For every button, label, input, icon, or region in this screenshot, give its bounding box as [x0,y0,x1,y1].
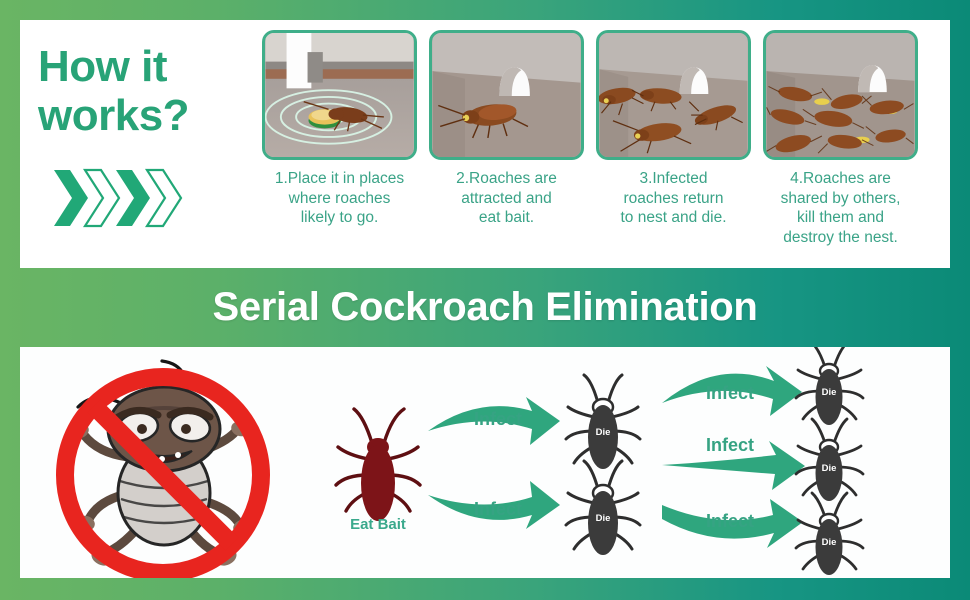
infected-roaches-returning-to-nest-illustration [599,33,748,157]
eat-bait-label: Eat Bait [350,516,406,533]
step-1-thumbnail [262,30,417,160]
step-1: 1.Place it in places where roaches likel… [256,30,423,248]
red-cockroach-icon [336,409,420,521]
banner: Serial Cockroach Elimination [0,272,970,342]
infection-chain-diagram: Eat Bait Infect Infect Die [20,347,950,578]
arrow-gen2-top-label: Infect [706,383,754,403]
dead-roach-gen2-top-label: Die [822,387,837,398]
how-it-works-heading-block: How it works? [20,20,256,229]
arrow-gen1-top-label: Infect [474,409,522,429]
arrow-gen1-bottom-label: Infect [474,499,522,519]
step-2: 2.Roaches are attracted and eat bait. [423,30,590,248]
step-4-caption: 4.Roaches are shared by others, kill the… [760,169,922,248]
page-title-line-1: How it [38,42,256,91]
step-3: 3.Infected roaches return to nest and di… [590,30,757,248]
dead-roach-gen2-middle: Die [796,419,863,501]
step-2-thumbnail [429,30,584,160]
chevron-right-icon [145,167,185,229]
dead-roach-gen2-bottom-label: Die [822,537,837,548]
many-dead-roaches-in-nest-illustration [766,33,915,157]
dead-roach-gen2-bottom: Die [796,493,863,575]
step-1-caption: 1.Place it in places where roaches likel… [259,169,421,228]
arrow-gen2-middle-label: Infect [706,435,754,455]
dead-roach-gen1-bottom-label: Die [596,513,611,524]
no-cockroach-prohibition-sign [65,361,261,573]
infection-chain-diagram-card: Eat Bait Infect Infect Die [20,347,950,578]
arrow-gen2-bottom-label: Infect [706,511,754,531]
dead-roach-gen1-top: Die [566,375,640,469]
roach-eating-bait-near-hole-illustration [432,33,581,157]
bait-disc-with-roach-illustration [265,33,414,157]
dead-roach-gen2-middle-label: Die [822,463,837,474]
dead-roach-gen1-bottom: Die [566,461,640,555]
step-2-caption: 2.Roaches are attracted and eat bait. [426,169,588,228]
steps-row: 1.Place it in places where roaches likel… [256,20,950,248]
dead-roach-gen2-top: Die [796,347,863,425]
dead-roach-gen1-top-label: Die [596,427,611,438]
step-4: 4.Roaches are shared by others, kill the… [757,30,924,248]
chevron-arrow-group [52,167,256,229]
step-4-thumbnail [763,30,918,160]
step-3-thumbnail [596,30,751,160]
page-title: How it works? [38,42,256,141]
step-3-caption: 3.Infected roaches return to nest and di… [593,169,755,228]
how-it-works-card: How it works? [20,20,950,268]
page-title-line-2: works? [38,91,256,140]
banner-title: Serial Cockroach Elimination [212,285,757,330]
